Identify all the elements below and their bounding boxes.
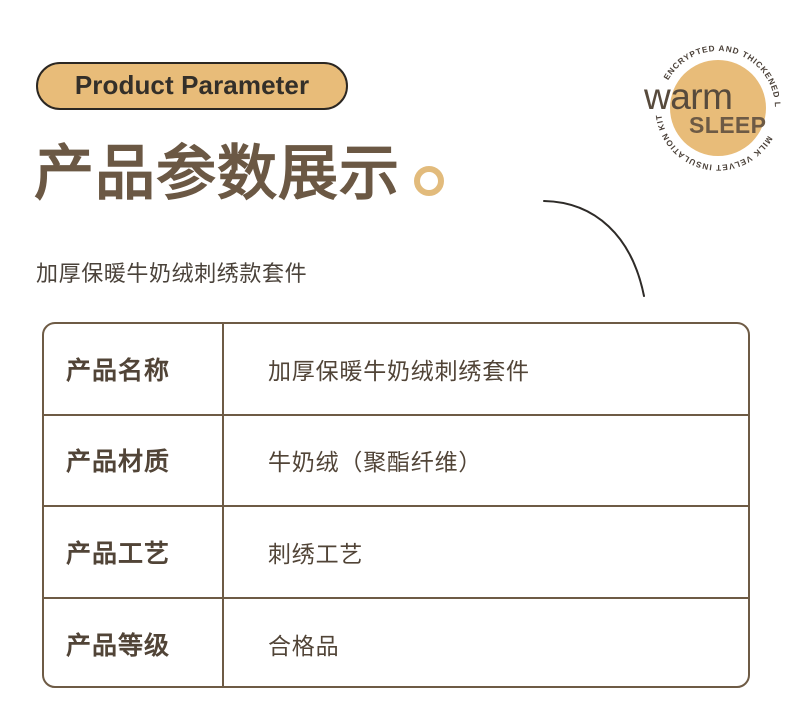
spec-value-cell: 加厚保暖牛奶绒刺绣套件 xyxy=(224,324,748,414)
eyebrow-pill-label: Product Parameter xyxy=(75,72,309,100)
page-title-text: 产品参数展示 xyxy=(34,142,400,205)
spec-value-cell: 刺绣工艺 xyxy=(224,507,748,597)
table-row: 产品工艺 刺绣工艺 xyxy=(44,507,748,599)
spec-key-cell: 产品等级 xyxy=(44,599,224,689)
page-subtitle: 加厚保暖牛奶绒刺绣款套件 xyxy=(36,256,307,288)
table-row: 产品材质 牛奶绒（聚酯纤维） xyxy=(44,416,748,508)
table-row: 产品等级 合格品 xyxy=(44,599,748,689)
table-row: 产品名称 加厚保暖牛奶绒刺绣套件 xyxy=(44,324,748,416)
spec-key-cell: 产品工艺 xyxy=(44,507,224,597)
spec-key-cell: 产品名称 xyxy=(44,324,224,414)
page-title: 产品参数展示 xyxy=(34,142,444,205)
product-parameter-page: Product Parameter 产品参数展示 加厚保暖牛奶绒刺绣款套件 EN… xyxy=(0,0,790,711)
spec-key-cell: 产品材质 xyxy=(44,416,224,506)
seal-wordmark-secondary: SLEEP xyxy=(689,114,766,137)
spec-value-cell: 牛奶绒（聚酯纤维） xyxy=(224,416,748,506)
spec-value-cell: 合格品 xyxy=(224,599,748,689)
seal-wordmark-primary: warm xyxy=(644,78,732,115)
product-spec-table: 产品名称 加厚保暖牛奶绒刺绣套件 产品材质 牛奶绒（聚酯纤维） 产品工艺 刺绣工… xyxy=(42,322,750,688)
curved-arc-decoration-icon xyxy=(540,186,680,306)
ring-decoration-icon xyxy=(414,166,444,196)
eyebrow-pill-badge: Product Parameter xyxy=(36,62,348,110)
brand-seal: ENCRYPTED AND THICKENED LACE STYLE MILK … xyxy=(648,38,788,178)
